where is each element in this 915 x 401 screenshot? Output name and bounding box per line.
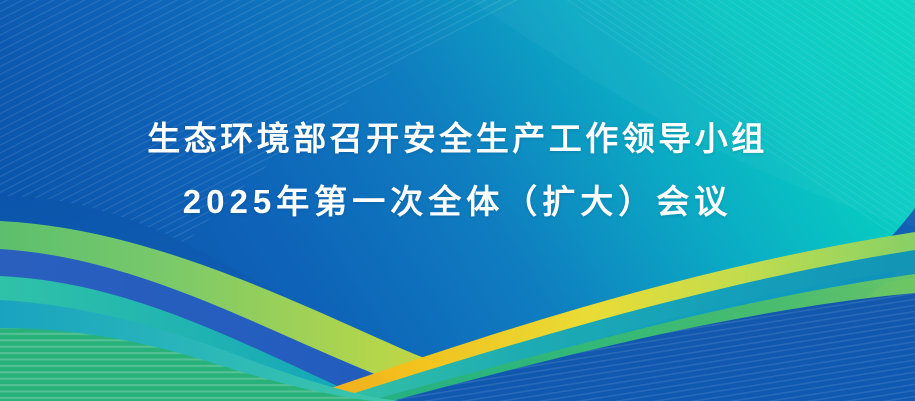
banner-background-artwork bbox=[0, 0, 915, 401]
conference-banner: 生态环境部召开安全生产工作领导小组 2025年第一次全体（扩大）会议 bbox=[0, 0, 915, 401]
